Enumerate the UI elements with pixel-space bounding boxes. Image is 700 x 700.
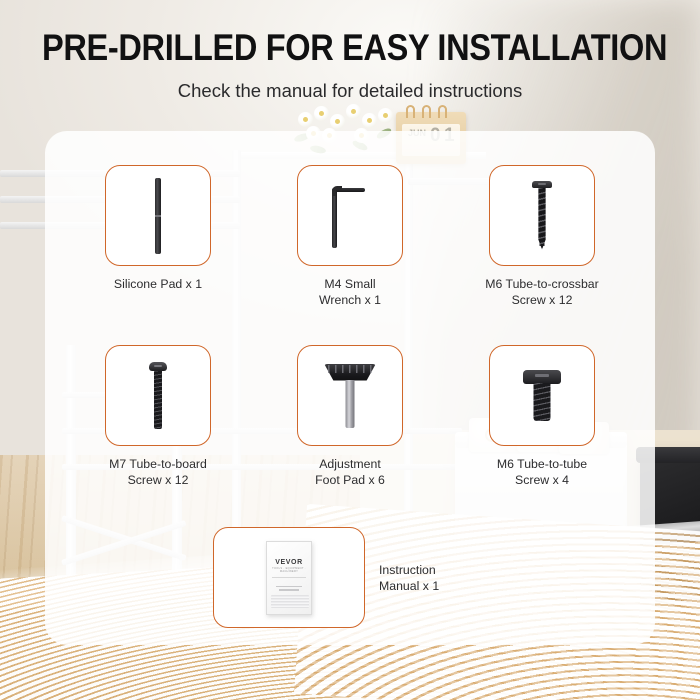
part-label: M6 Tube-to-crossbar Screw x 12: [467, 276, 617, 308]
part-instruction-manual[interactable]: VEVOR TOOLS · EQUIPMENT · MACHINERY Inst…: [0, 527, 700, 628]
part-label-line1: M4 Small: [275, 276, 425, 292]
part-label: Instruction Manual x 1: [379, 562, 487, 594]
part-image-box: [105, 165, 211, 266]
silicone-pad-icon: [155, 178, 161, 254]
part-label: M6 Tube-to-tube Screw x 4: [467, 456, 617, 488]
part-m6-tube-to-crossbar-screw[interactable]: M6 Tube-to-crossbar Screw x 12: [489, 165, 595, 308]
header: PRE-DRILLED FOR EASY INSTALLATION Check …: [0, 0, 700, 102]
part-m7-tube-to-board-screw[interactable]: M7 Tube-to-board Screw x 12: [105, 345, 211, 488]
part-label-line1: M6 Tube-to-tube: [467, 456, 617, 472]
part-label-line2: Screw x 4: [467, 472, 617, 488]
instruction-manual-icon: VEVOR TOOLS · EQUIPMENT · MACHINERY: [266, 541, 312, 615]
part-m6-tube-to-tube-screw[interactable]: M6 Tube-to-tube Screw x 4: [489, 345, 595, 488]
part-label-line1: M6 Tube-to-crossbar: [467, 276, 617, 292]
part-label-line2: Wrench x 1: [275, 292, 425, 308]
part-label: M4 Small Wrench x 1: [275, 276, 425, 308]
part-image-box: [489, 165, 595, 266]
part-image-box: [297, 345, 403, 446]
part-adjustment-foot-pad[interactable]: Adjustment Foot Pad x 6: [297, 345, 403, 488]
wood-screw-icon: [530, 181, 554, 251]
booklet-brand: VEVOR: [267, 559, 311, 566]
bolt-icon: [147, 362, 169, 430]
short-bolt-icon: [522, 370, 562, 422]
part-label: Adjustment Foot Pad x 6: [275, 456, 425, 488]
page-title: PRE-DRILLED FOR EASY INSTALLATION: [42, 27, 658, 69]
part-label-line1: Instruction: [379, 562, 487, 578]
part-label-line1: M7 Tube-to-board: [83, 456, 233, 472]
part-image-box: [489, 345, 595, 446]
parts-list: Silicone Pad x 1 M4 Small Wrench x 1: [0, 165, 700, 488]
part-image-box: [105, 345, 211, 446]
page-subtitle: Check the manual for detailed instructio…: [0, 80, 700, 102]
part-label-line1: Adjustment: [275, 456, 425, 472]
part-label-line2: Screw x 12: [83, 472, 233, 488]
part-label-line2: Manual x 1: [379, 578, 487, 594]
part-silicone-pad[interactable]: Silicone Pad x 1: [105, 165, 211, 308]
part-image-box: VEVOR TOOLS · EQUIPMENT · MACHINERY: [213, 527, 365, 628]
part-label: Silicone Pad x 1: [83, 276, 233, 292]
part-m4-small-wrench[interactable]: M4 Small Wrench x 1: [297, 165, 403, 308]
allen-wrench-icon: [332, 180, 368, 252]
adjustment-foot-pad-icon: [323, 364, 377, 428]
parts-row-2: M7 Tube-to-board Screw x 12 Adjustment F…: [0, 345, 700, 488]
part-label-line2: Screw x 12: [467, 292, 617, 308]
booklet-tagline: TOOLS · EQUIPMENT · MACHINERY: [267, 567, 311, 573]
parts-row-1: Silicone Pad x 1 M4 Small Wrench x 1: [0, 165, 700, 308]
part-image-box: [297, 165, 403, 266]
part-label: M7 Tube-to-board Screw x 12: [83, 456, 233, 488]
part-label-line2: Foot Pad x 6: [275, 472, 425, 488]
